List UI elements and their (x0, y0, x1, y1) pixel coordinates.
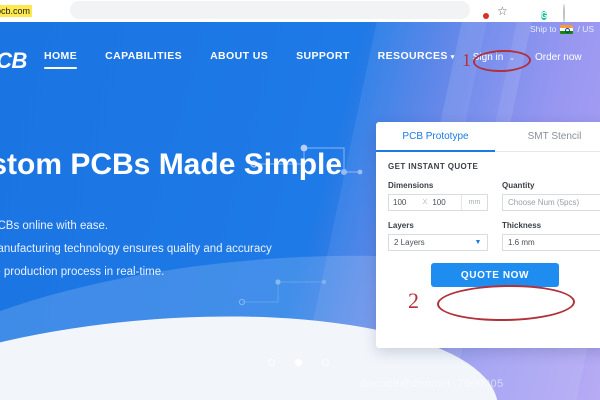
ship-to-label: Ship to (530, 24, 556, 34)
watermark-text: dooooit@dooooit_7000005 (360, 378, 504, 390)
quantity-placeholder: Choose Num (5pcs) (503, 198, 584, 207)
hero-title: ustom PCBs Made Simple (0, 148, 342, 182)
field-quantity: Quantity Choose Num (5pcs) (502, 181, 600, 211)
sign-in-button[interactable]: Sign in ⌄ (473, 52, 515, 63)
nav-item-resources[interactable]: RESOURCES▾ (378, 50, 455, 69)
nav-utility-links: Sign in ⌄ Order now M (473, 52, 600, 63)
carousel-dot-3[interactable] (322, 359, 329, 366)
layers-chevron-down-icon: ▼ (469, 239, 487, 246)
layers-select[interactable]: 2 Layers ▼ (388, 234, 488, 251)
profile-avatar-icon[interactable] (585, 5, 598, 18)
quote-form-heading: GET INSTANT QUOTE (388, 162, 600, 171)
ship-to-selector[interactable]: Ship to / US (530, 24, 594, 34)
nav-links: HOME CAPABILITIES ABOUT US SUPPORT RESOU… (44, 50, 455, 69)
quantity-input[interactable]: Choose Num (5pcs) (502, 194, 600, 211)
field-layers: Layers 2 Layers ▼ (388, 221, 488, 251)
hero-section: Ship to / US PCB HOME CAPABILITIES ABOUT… (0, 22, 600, 400)
dimensions-height-input[interactable]: 100 (428, 198, 461, 207)
dimensions-input-group[interactable]: 100 X 100 mm (388, 194, 488, 211)
address-bar[interactable]: pcb.com (0, 2, 32, 20)
india-flag-icon (560, 25, 573, 34)
nav-item-support-label: SUPPORT (296, 50, 350, 62)
nav-item-resources-label: RESOURCES (378, 50, 448, 62)
site-logo[interactable]: PCB (0, 48, 27, 74)
browser-action-icons: ☆ G (475, 2, 598, 20)
sign-in-label: Sign in (473, 52, 504, 63)
hero-description: der PCBs online with ease. ital manufact… (0, 220, 272, 289)
form-row-dimensions-quantity: Dimensions 100 X 100 mm Quantity Choose … (388, 181, 600, 211)
ship-to-value: / US (577, 24, 594, 34)
order-now-link[interactable]: Order now (535, 52, 582, 63)
hero-line-2: ital manufacturing technology ensures qu… (0, 243, 272, 255)
nav-item-home[interactable]: HOME (44, 50, 77, 69)
dimensions-label: Dimensions (388, 181, 488, 190)
chevron-down-icon: ▾ (451, 54, 455, 61)
form-row-layers-thickness: Layers 2 Layers ▼ Thickness 1.6 mm (388, 221, 600, 251)
nav-item-support[interactable]: SUPPORT (296, 50, 350, 69)
bookmark-star-icon[interactable]: ☆ (497, 5, 510, 18)
quantity-label: Quantity (502, 181, 600, 190)
sign-in-chevron-down-icon: ⌄ (509, 55, 515, 62)
dimensions-separator-icon: X (422, 199, 429, 206)
carousel-dots (268, 359, 329, 366)
nav-item-capabilities[interactable]: CAPABILITIES (105, 50, 182, 69)
thickness-select[interactable]: 1.6 mm (502, 234, 600, 251)
quote-form: GET INSTANT QUOTE Dimensions 100 X 100 m… (376, 152, 600, 287)
grammarly-icon[interactable]: G (541, 5, 554, 18)
extension-grey-icon[interactable] (563, 5, 576, 18)
tab-pcb-prototype[interactable]: PCB Prototype (376, 122, 495, 151)
nav-item-home-label: HOME (44, 50, 77, 62)
quote-card-tabs: PCB Prototype SMT Stencil (376, 122, 600, 152)
quote-cta-wrapper: QUOTE NOW (388, 263, 600, 287)
url-text[interactable]: pcb.com (0, 5, 32, 17)
dimensions-unit-label: mm (461, 195, 487, 210)
nav-item-capabilities-label: CAPABILITIES (105, 50, 182, 62)
carousel-dot-1[interactable] (268, 359, 275, 366)
thickness-label: Thickness (502, 221, 600, 230)
nav-item-about-us-label: ABOUT US (210, 50, 268, 62)
field-dimensions: Dimensions 100 X 100 mm (388, 181, 488, 211)
omnibox-background[interactable] (70, 1, 470, 19)
quote-now-button[interactable]: QUOTE NOW (431, 263, 559, 287)
instant-quote-card: PCB Prototype SMT Stencil GET INSTANT QU… (376, 122, 600, 348)
nav-item-about-us[interactable]: ABOUT US (210, 50, 268, 69)
hero-line-3: ck the production process in real-time. (0, 266, 272, 278)
field-thickness: Thickness 1.6 mm (502, 221, 600, 251)
dimensions-width-input[interactable]: 100 (389, 198, 422, 207)
main-navigation: PCB HOME CAPABILITIES ABOUT US SUPPORT R… (0, 38, 600, 82)
site-permission-shield-icon[interactable] (475, 5, 488, 18)
thickness-value: 1.6 mm (503, 238, 540, 247)
extensions-icon[interactable] (519, 5, 532, 18)
layers-value: 2 Layers (389, 238, 430, 247)
browser-toolbar: pcb.com ☆ G (0, 0, 600, 22)
tab-smt-stencil[interactable]: SMT Stencil (495, 122, 600, 151)
grammarly-glyph: G (541, 11, 547, 20)
carousel-dot-2[interactable] (295, 359, 302, 366)
hero-line-1: der PCBs online with ease. (0, 220, 272, 232)
layers-label: Layers (388, 221, 488, 230)
